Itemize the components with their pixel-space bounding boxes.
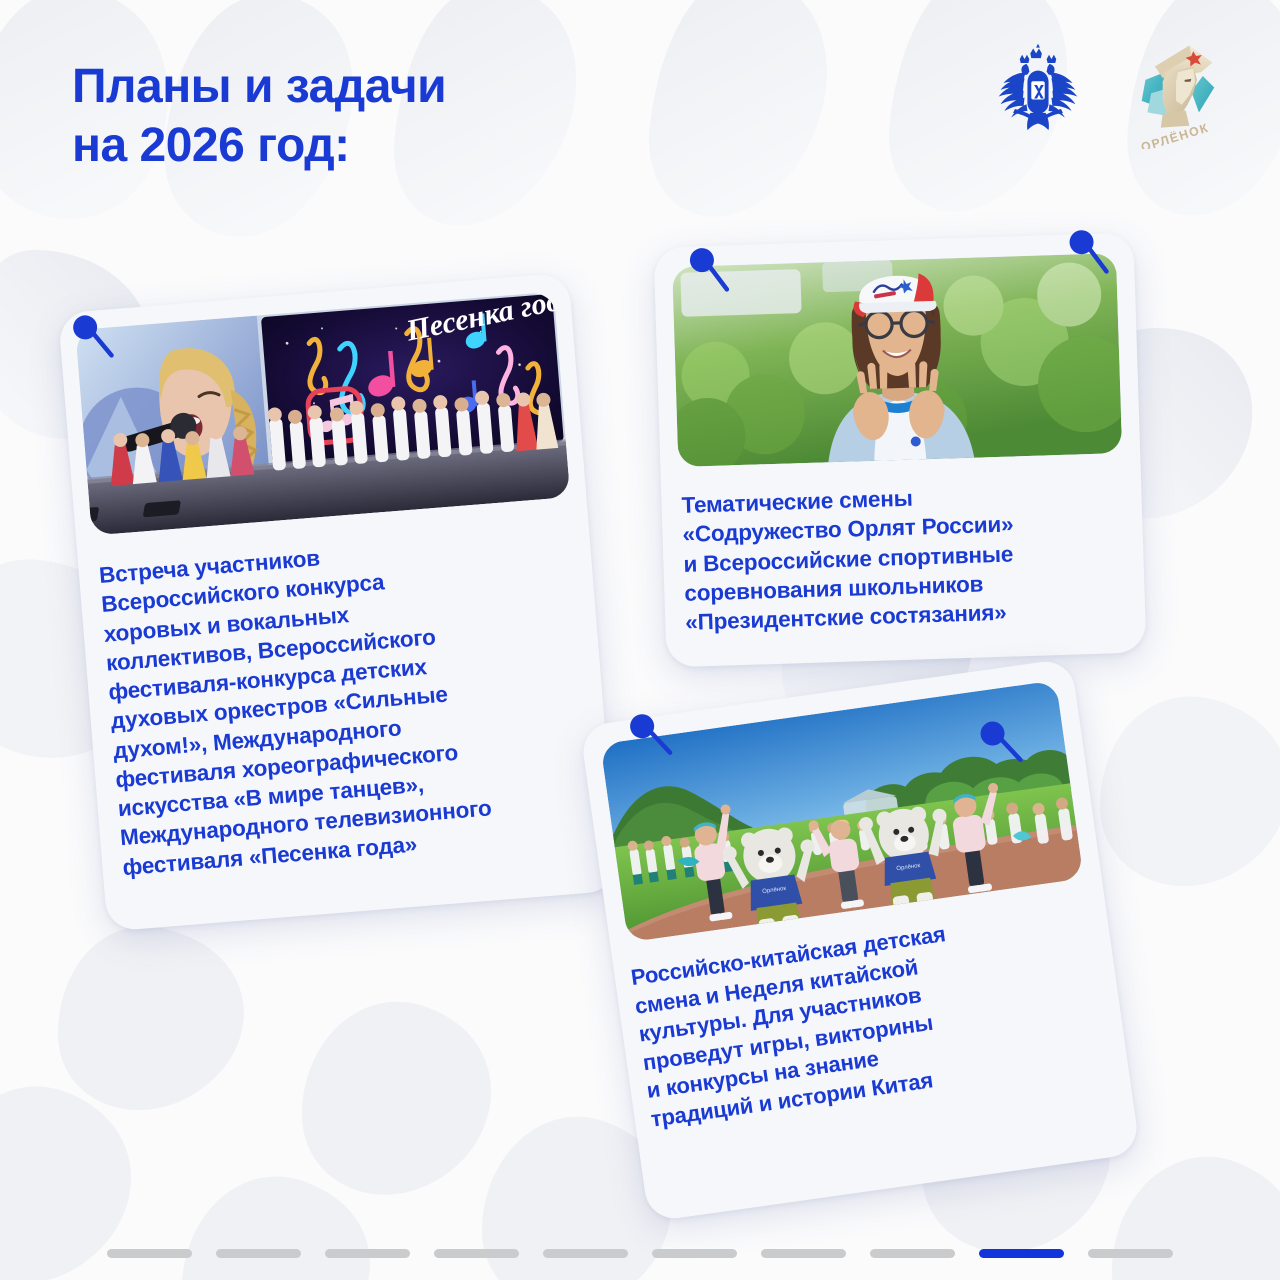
pagination[interactable] (0, 1249, 1280, 1258)
logo-group: ОРЛЁНОК (990, 38, 1220, 154)
pagination-bar-9[interactable] (979, 1249, 1064, 1258)
card-russia-china-shift[interactable]: Орлёнок (580, 658, 1141, 1222)
pagination-bar-7[interactable] (761, 1249, 846, 1258)
card-text-choir: Встреча участников Всероссийского конкур… (98, 523, 596, 882)
pin-icon (1065, 229, 1112, 276)
pagination-bar-1[interactable] (107, 1249, 192, 1258)
pagination-bar-5[interactable] (543, 1249, 628, 1258)
page-header: Планы и задачи на 2026 год: (0, 0, 1280, 190)
page-title: Планы и задачи на 2026 год: (72, 58, 446, 175)
card-text-thematic-shifts: Тематические смены «Содружество Орлят Ро… (681, 477, 1127, 637)
card-photo-girl-heart (672, 253, 1122, 467)
orlyonok-logo-icon: ОРЛЁНОК (1134, 34, 1220, 150)
pagination-bar-4[interactable] (434, 1249, 519, 1258)
card-text-russia-china: Российско-китайская детская смена и Неде… (629, 900, 1114, 1135)
pin-icon (686, 247, 733, 294)
pagination-bar-10[interactable] (1088, 1249, 1173, 1258)
ministry-of-education-eagle-emblem-icon (990, 38, 1086, 134)
pagination-bar-3[interactable] (325, 1249, 410, 1258)
pin-icon (975, 717, 1027, 769)
pagination-bar-6[interactable] (652, 1249, 737, 1258)
card-thematic-shifts[interactable]: Тематические смены «Содружество Орлят Ро… (654, 233, 1147, 668)
pagination-bar-2[interactable] (216, 1249, 301, 1258)
pin-icon (68, 313, 118, 363)
pagination-bar-8[interactable] (870, 1249, 955, 1258)
card-photo-choir: Песенка года (75, 292, 570, 536)
pin-icon (625, 710, 677, 762)
card-choir-festival[interactable]: Песенка года (58, 272, 618, 931)
